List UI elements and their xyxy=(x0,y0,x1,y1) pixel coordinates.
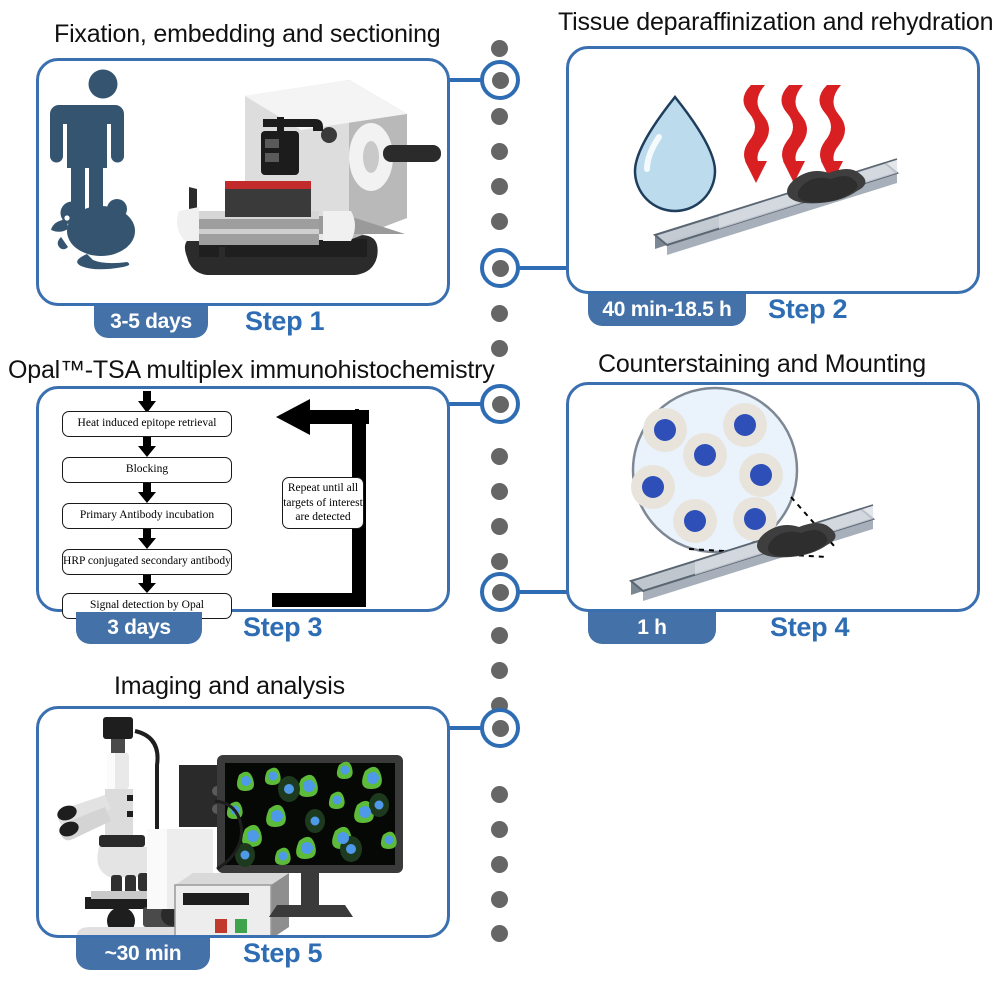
step1-label: Step 1 xyxy=(245,306,324,337)
timeline-dot xyxy=(491,627,508,644)
flow-node-4[interactable]: HRP conjugated secondary antibody xyxy=(62,549,232,575)
loop-note-line-1: Repeat until all xyxy=(288,481,358,495)
control-unit-icon xyxy=(175,873,289,935)
mouse-icon xyxy=(51,199,135,269)
flow-node-3[interactable]: Primary Antibody incubation xyxy=(62,503,232,529)
step5-label: Step 5 xyxy=(243,938,322,969)
microtome-icon xyxy=(177,80,441,275)
timeline-dot xyxy=(491,553,508,570)
flow-node-2[interactable]: Blocking xyxy=(62,457,232,483)
camera-controller-icon xyxy=(179,765,222,827)
step3-title: Opal™-TSA multiplex immunohistochemistry xyxy=(8,356,495,385)
step2-duration-badge: 40 min-18.5 h xyxy=(588,294,746,326)
step2-label: Step 2 xyxy=(768,294,847,325)
timeline-dot xyxy=(491,891,508,908)
timeline-dot xyxy=(491,305,508,322)
flow-arrow xyxy=(137,575,157,593)
step4-duration-badge: 1 h xyxy=(588,612,716,644)
step4-illustration xyxy=(569,385,977,609)
step5-duration-badge: ~30 min xyxy=(76,938,210,970)
step2-illustration xyxy=(569,49,977,291)
workflow-diagram: Fixation, embedding and sectioning xyxy=(0,0,996,996)
loop-note-box[interactable]: Repeat until all targets of interest are… xyxy=(282,477,364,529)
flowchart: Heat induced epitope retrieval Blocking … xyxy=(39,389,447,609)
step3-panel[interactable]: Heat induced epitope retrieval Blocking … xyxy=(36,386,450,612)
loop-note-line-3: are detected xyxy=(295,510,350,524)
step4-title: Counterstaining and Mounting xyxy=(598,350,926,379)
timeline-dot xyxy=(491,178,508,195)
step3-duration-badge: 3 days xyxy=(76,612,202,644)
step3-label: Step 3 xyxy=(243,612,322,643)
timeline-dot xyxy=(491,786,508,803)
flow-arrow xyxy=(137,391,157,413)
step4-label: Step 4 xyxy=(770,612,849,643)
timeline-dot xyxy=(491,518,508,535)
eyepiece xyxy=(55,795,111,840)
timeline-dot xyxy=(491,40,508,57)
timeline-dot xyxy=(491,340,508,357)
timeline-node-step3[interactable] xyxy=(480,384,520,424)
step4-panel[interactable] xyxy=(566,382,980,612)
timeline-dot xyxy=(491,821,508,838)
step2-title: Tissue deparaffinization and rehydration xyxy=(558,8,993,37)
step1-duration-badge: 3-5 days xyxy=(94,306,208,338)
timeline-node-step2[interactable] xyxy=(480,248,520,288)
step5-title: Imaging and analysis xyxy=(114,672,345,701)
water-droplet-icon xyxy=(635,97,715,211)
step2-panel[interactable] xyxy=(566,46,980,294)
timeline-dot xyxy=(491,483,508,500)
flow-arrow xyxy=(137,437,157,457)
timeline-dot xyxy=(491,108,508,125)
step1-title: Fixation, embedding and sectioning xyxy=(54,20,441,49)
timeline-dot xyxy=(491,856,508,873)
timeline-dot xyxy=(491,448,508,465)
timeline-dot xyxy=(491,662,508,679)
heat-arrows-icon xyxy=(743,85,845,183)
step1-illustration xyxy=(39,61,447,303)
timeline-node-step4[interactable] xyxy=(480,572,520,612)
step1-panel[interactable] xyxy=(36,58,450,306)
flow-arrow xyxy=(137,483,157,503)
step5-panel[interactable] xyxy=(36,706,450,938)
timeline-dot xyxy=(491,143,508,160)
flow-arrow xyxy=(137,529,157,549)
timeline-node-step1[interactable] xyxy=(480,60,520,100)
step5-illustration xyxy=(39,709,447,935)
timeline-node-step5[interactable] xyxy=(480,708,520,748)
timeline-dot xyxy=(491,925,508,942)
loop-note-line-2: targets of interest xyxy=(283,496,363,510)
timeline-dot xyxy=(491,213,508,230)
flow-node-1[interactable]: Heat induced epitope retrieval xyxy=(62,411,232,437)
